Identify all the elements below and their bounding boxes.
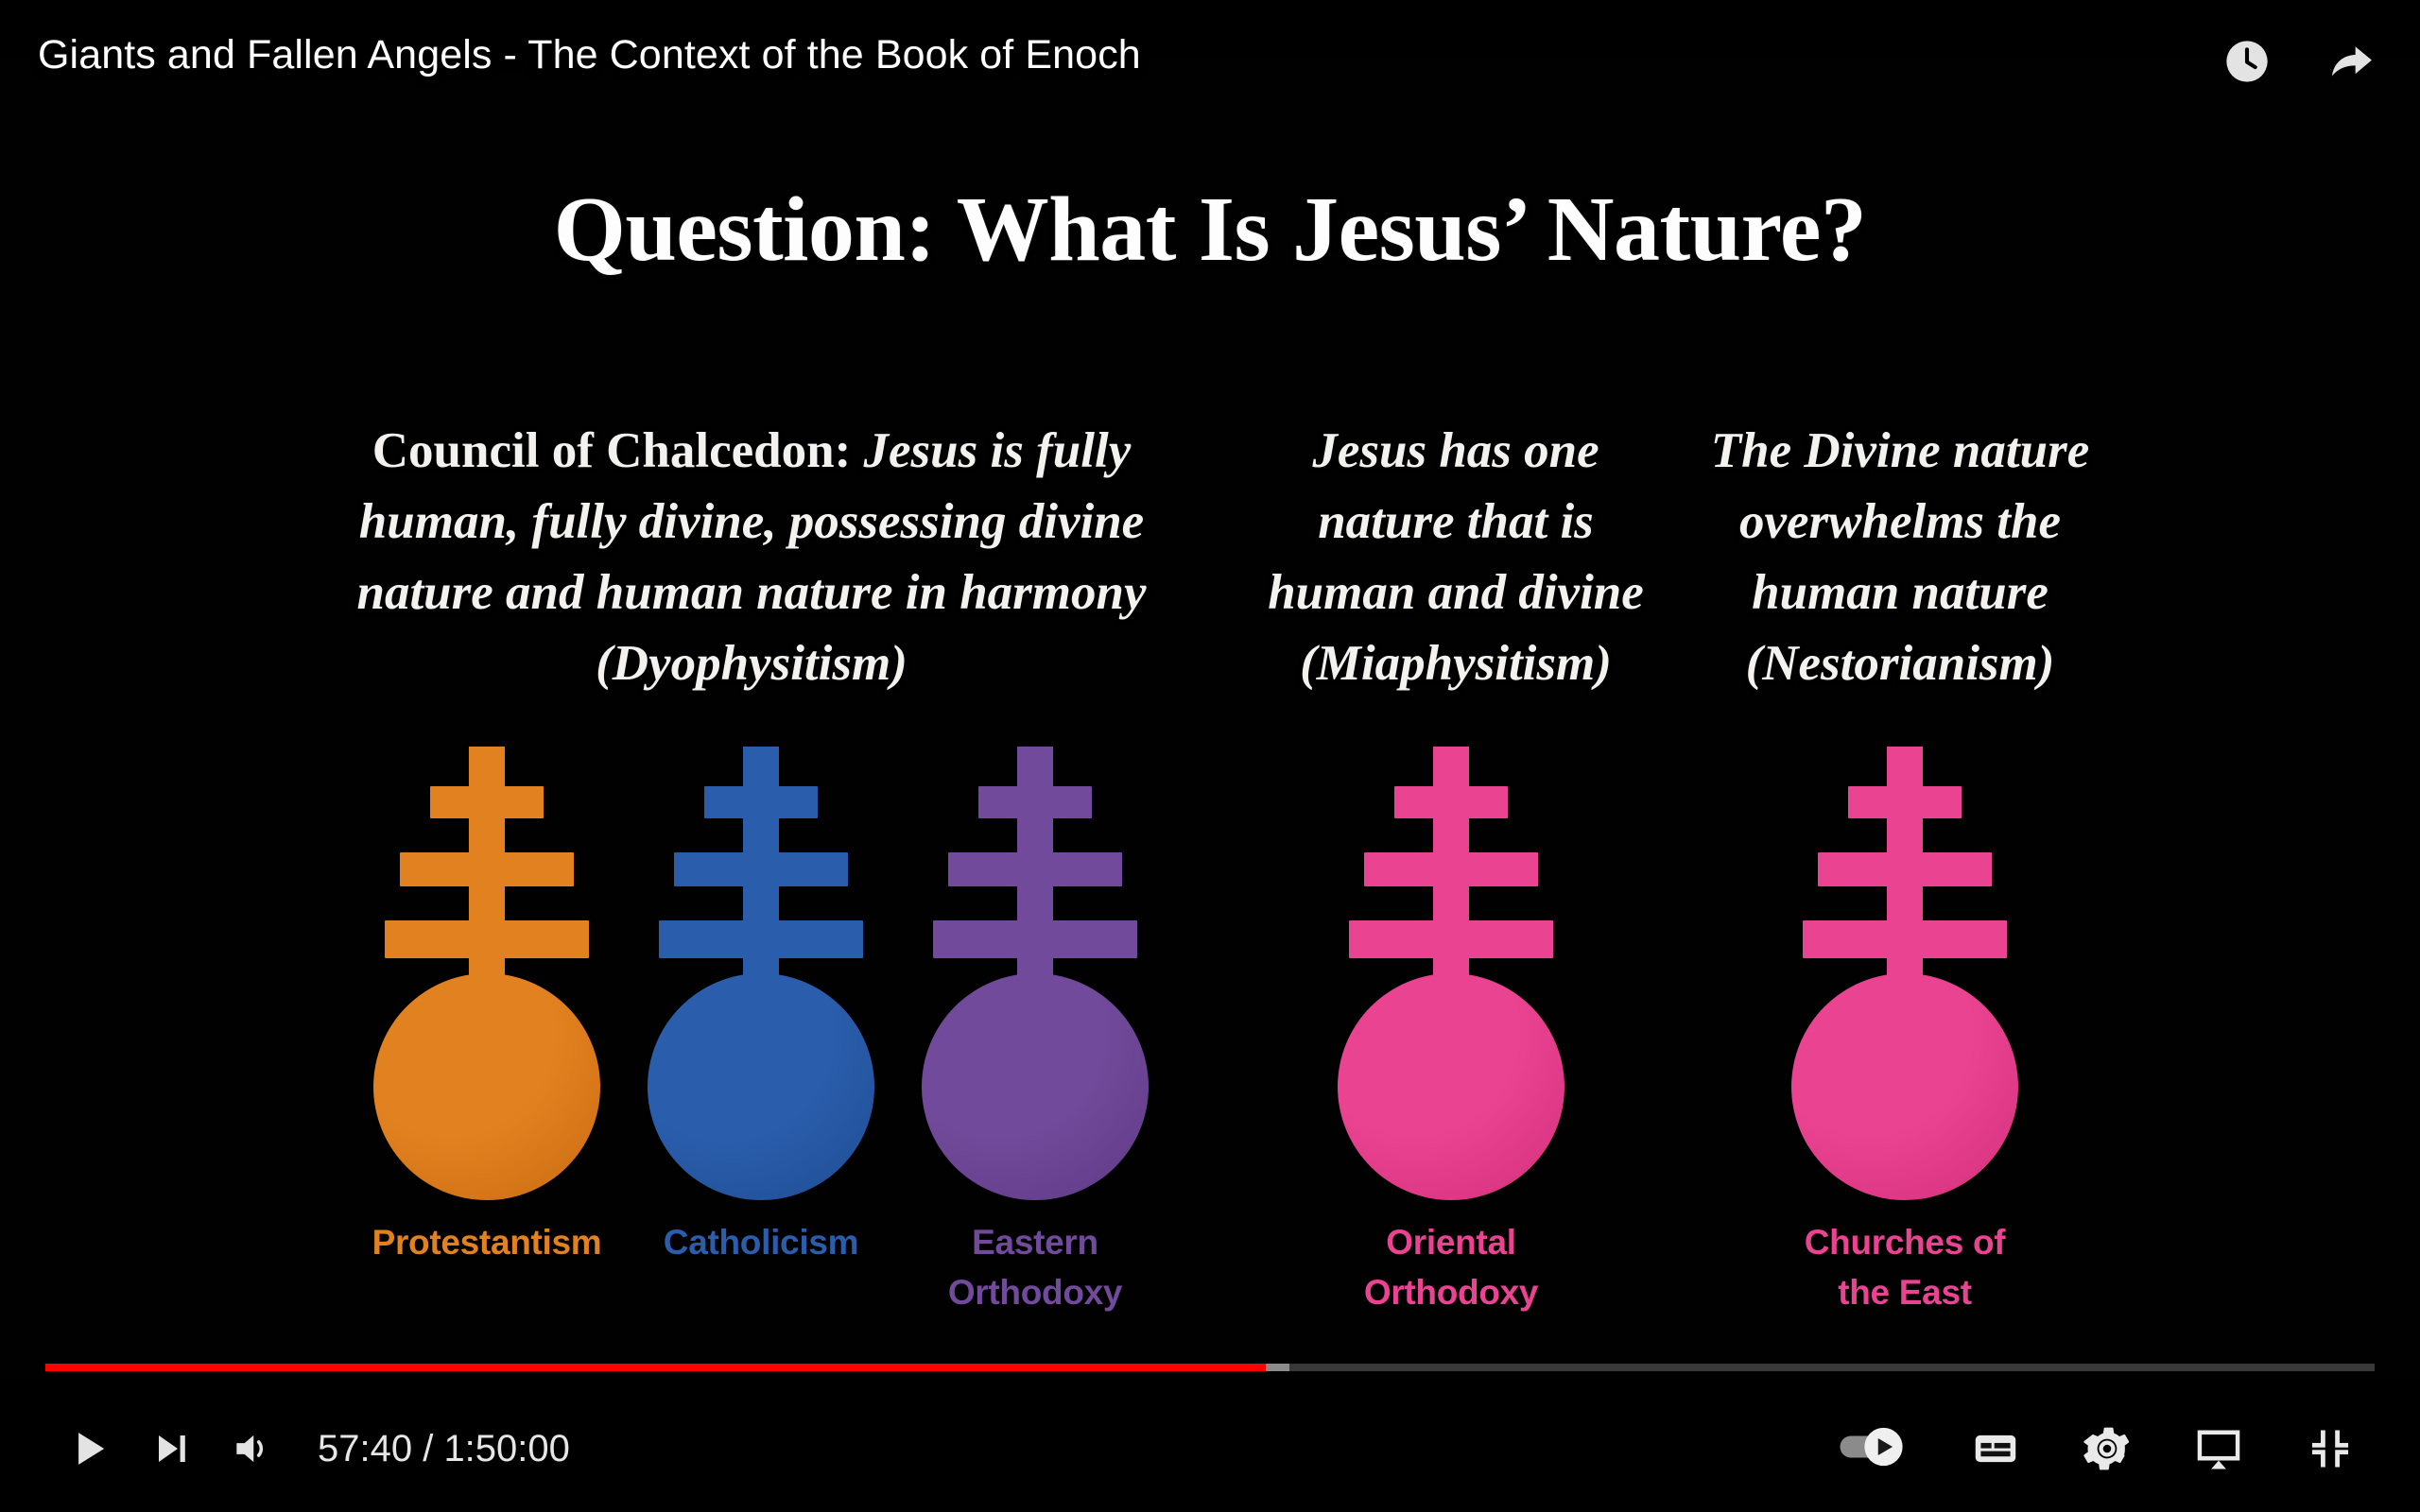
cross-bar-3	[659, 920, 863, 958]
video-player: Question: What Is Jesus’ Nature? Council…	[0, 0, 2420, 1512]
cross-bar-2	[1364, 852, 1538, 886]
orb-circle	[373, 973, 600, 1200]
cross-bar-2	[400, 852, 574, 886]
cross-bar-1	[1848, 786, 1962, 818]
next-track-icon	[148, 1426, 194, 1471]
top-action-buttons	[2220, 34, 2378, 89]
volume-icon	[229, 1425, 276, 1472]
play-button[interactable]	[49, 1408, 130, 1489]
controls-row: 57:40 / 1:50:00	[0, 1397, 2420, 1501]
cross-bar-1	[1394, 786, 1508, 818]
progress-played	[45, 1364, 1266, 1371]
cross-orb-icon	[359, 747, 614, 1200]
share-button[interactable]	[2324, 34, 2378, 89]
denomination-figure: Churches of the East	[1777, 747, 2032, 1200]
closed-captions-icon	[1971, 1424, 2020, 1473]
cross-bar-3	[385, 920, 589, 958]
watch-later-button[interactable]	[2220, 34, 2274, 89]
description-chalcedon: Council of Chalcedon: Jesus is fully hum…	[345, 416, 1158, 699]
description-nestorianism-text: The Divine nature overwhelms the human n…	[1711, 423, 2089, 691]
cross-orb-icon	[907, 747, 1163, 1200]
cross-orb-icon	[633, 747, 889, 1200]
denomination-label: Eastern Orthodoxy	[907, 1217, 1163, 1317]
player-top-bar: Giants and Fallen Angels - The Context o…	[0, 0, 2420, 142]
controls-left-group: 57:40 / 1:50:00	[49, 1408, 570, 1489]
subtitles-button[interactable]	[1955, 1408, 2036, 1489]
denomination-label: Churches of the East	[1777, 1217, 2032, 1317]
exit-fullscreen-icon	[2306, 1424, 2355, 1473]
cross-orb-icon	[1777, 747, 2032, 1200]
watch-later-icon	[2222, 37, 2272, 86]
denomination-figure: Catholicism	[633, 747, 889, 1200]
time-display: 57:40 / 1:50:00	[318, 1430, 570, 1468]
cross-bar-3	[933, 920, 1137, 958]
orb-circle	[1791, 973, 2018, 1200]
denomination-figures: ProtestantismCatholicismEastern Orthodox…	[0, 747, 2420, 1200]
cross-bar-1	[704, 786, 818, 818]
player-controls: 57:40 / 1:50:00	[0, 1344, 2420, 1512]
autoplay-toggle[interactable]	[1821, 1408, 1925, 1489]
settings-button[interactable]	[2066, 1408, 2148, 1489]
play-icon	[65, 1424, 114, 1473]
cross-bar-3	[1803, 920, 2007, 958]
description-nestorianism: The Divine nature overwhelms the human n…	[1687, 416, 2113, 699]
cross-bar-1	[978, 786, 1092, 818]
denomination-figure: Protestantism	[359, 747, 614, 1200]
volume-button[interactable]	[212, 1408, 293, 1489]
video-frame: Question: What Is Jesus’ Nature? Council…	[0, 0, 2420, 1389]
denomination-figure: Oriental Orthodoxy	[1323, 747, 1579, 1200]
cross-bar-2	[1818, 852, 1992, 886]
progress-bar[interactable]	[45, 1361, 2375, 1374]
exit-fullscreen-button[interactable]	[2290, 1408, 2371, 1489]
cross-bar-2	[674, 852, 848, 886]
share-icon	[2325, 35, 2377, 88]
denomination-label: Catholicism	[633, 1217, 889, 1267]
gear-icon	[2082, 1423, 2133, 1474]
denomination-figure: Eastern Orthodoxy	[907, 747, 1163, 1200]
orb-circle	[922, 973, 1149, 1200]
slide-heading: Question: What Is Jesus’ Nature?	[0, 178, 2420, 282]
description-miaphysitism: Jesus has one nature that is human and d…	[1253, 416, 1659, 699]
cast-button[interactable]	[2178, 1408, 2259, 1489]
orb-circle	[1338, 973, 1564, 1200]
cross-orb-icon	[1323, 747, 1579, 1200]
cross-bar-2	[948, 852, 1122, 886]
description-chalcedon-lead: Council of Chalcedon:	[372, 423, 851, 478]
orb-circle	[648, 973, 874, 1200]
next-video-button[interactable]	[130, 1408, 212, 1489]
video-title: Giants and Fallen Angels - The Context o…	[38, 30, 1141, 79]
cross-bar-1	[430, 786, 544, 818]
description-miaphysitism-text: Jesus has one nature that is human and d…	[1268, 423, 1644, 691]
denomination-label: Oriental Orthodoxy	[1323, 1217, 1579, 1317]
cross-bar-3	[1349, 920, 1553, 958]
cast-screen-icon	[2192, 1422, 2245, 1475]
controls-right-group	[1821, 1408, 2380, 1489]
denomination-label: Protestantism	[359, 1217, 614, 1267]
autoplay-icon	[1836, 1425, 1910, 1473]
